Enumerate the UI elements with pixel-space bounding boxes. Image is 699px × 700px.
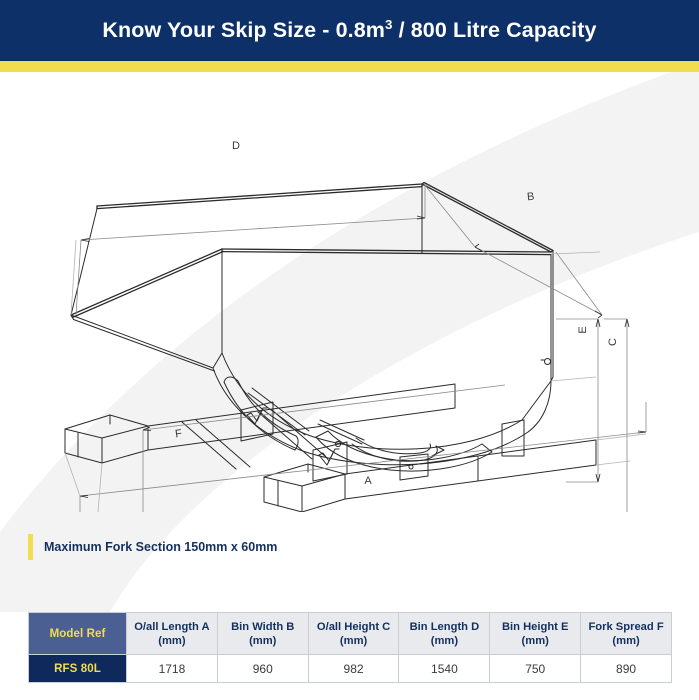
- dimension-line-F: [143, 385, 505, 512]
- spec-table-head: Model Ref O/all Length A (mm) Bin Width …: [29, 613, 672, 655]
- bin-belly-right-join: [522, 381, 551, 420]
- header-accent-bar: [0, 61, 699, 72]
- col-header-bin-length-line1: Bin Length D: [410, 621, 480, 633]
- dimension-line-C: [604, 319, 629, 512]
- skip-technical-drawing: D B E C F A: [0, 72, 699, 512]
- bin-front-rim: [222, 249, 551, 255]
- col-header-overall-length: O/all Length A (mm): [127, 613, 218, 655]
- base-runner-rear: [65, 384, 455, 463]
- bin-left-chamfer: [213, 353, 222, 368]
- dimension-label-A: A: [364, 475, 372, 487]
- dimension-label-E: E: [577, 326, 589, 333]
- cell-overall-height: 982: [308, 655, 399, 683]
- cell-overall-length: 1718: [127, 655, 218, 683]
- base-runner-front: [264, 440, 596, 512]
- dimension-label-D: D: [232, 140, 240, 152]
- col-header-bin-length: Bin Length D (mm): [399, 613, 490, 655]
- dimension-witness-lines: [65, 240, 646, 512]
- bin-left-rim: [71, 249, 223, 317]
- spec-table-header-row: Model Ref O/all Length A (mm) Bin Width …: [29, 613, 672, 655]
- col-header-overall-height: O/all Height C (mm): [308, 613, 399, 655]
- col-header-overall-length-unit: (mm): [158, 635, 185, 647]
- spec-table-container: Model Ref O/all Length A (mm) Bin Width …: [28, 612, 672, 683]
- col-header-model-ref: Model Ref: [29, 613, 127, 655]
- bin-lower-left-slope-1: [71, 315, 213, 368]
- col-header-bin-height-line1: Bin Height E: [502, 621, 569, 633]
- col-header-overall-height-unit: (mm): [340, 635, 367, 647]
- col-header-bin-height: Bin Height E (mm): [490, 613, 581, 655]
- dimension-label-F: F: [174, 428, 183, 441]
- col-header-overall-height-line1: O/all Height C: [317, 621, 390, 633]
- dimension-line-E: [556, 319, 600, 482]
- tipping-mechanism: [224, 377, 492, 471]
- col-header-bin-length-unit: (mm): [431, 635, 458, 647]
- skip-drawing-svg: D B E C F A: [0, 72, 699, 512]
- spec-table-body: RFS 80L 1718 960 982 1540 750 890: [29, 655, 672, 683]
- skip-spec-sheet: Know Your Skip Size - 0.8m3 / 800 Litre …: [0, 0, 699, 700]
- fork-section-note: Maximum Fork Section 150mm x 60mm: [28, 534, 277, 560]
- col-header-overall-length-line1: O/all Length A: [134, 621, 209, 633]
- spec-table: Model Ref O/all Length A (mm) Bin Width …: [28, 612, 672, 683]
- page-title-suffix: / 800 Litre Capacity: [393, 18, 597, 42]
- col-header-bin-width-line1: Bin Width B: [231, 621, 294, 633]
- cell-bin-length: 1540: [399, 655, 490, 683]
- col-header-fork-spread-unit: (mm): [612, 635, 639, 647]
- col-header-fork-spread-line1: Fork Spread F: [588, 621, 663, 633]
- dimension-line-A: [80, 402, 646, 512]
- hinge-knob-icon: [541, 359, 551, 365]
- dimension-label-B: B: [526, 191, 535, 204]
- page-title: Know Your Skip Size - 0.8m3 / 800 Litre …: [102, 18, 596, 43]
- col-header-bin-width-unit: (mm): [249, 635, 276, 647]
- col-header-bin-width: Bin Width B (mm): [217, 613, 308, 655]
- dimension-label-C: C: [607, 338, 619, 346]
- header-bar: Know Your Skip Size - 0.8m3 / 800 Litre …: [0, 0, 699, 61]
- page-title-superscript: 3: [385, 17, 393, 32]
- cell-fork-spread: 890: [581, 655, 672, 683]
- col-header-fork-spread: Fork Spread F (mm): [581, 613, 672, 655]
- page-title-prefix: Know Your Skip Size - 0.8m: [102, 18, 385, 42]
- cell-bin-width: 960: [217, 655, 308, 683]
- col-header-bin-height-unit: (mm): [522, 635, 549, 647]
- col-header-model-ref-line1: Model Ref: [50, 628, 106, 640]
- cell-bin-height: 750: [490, 655, 581, 683]
- bin-lower-left-slope-2: [74, 320, 215, 372]
- table-row: RFS 80L 1718 960 982 1540 750 890: [29, 655, 672, 683]
- fork-note-label: Maximum Fork Section 150mm x 60mm: [33, 534, 277, 560]
- bin-top-rim: [97, 184, 422, 209]
- cell-model-ref: RFS 80L: [29, 655, 127, 683]
